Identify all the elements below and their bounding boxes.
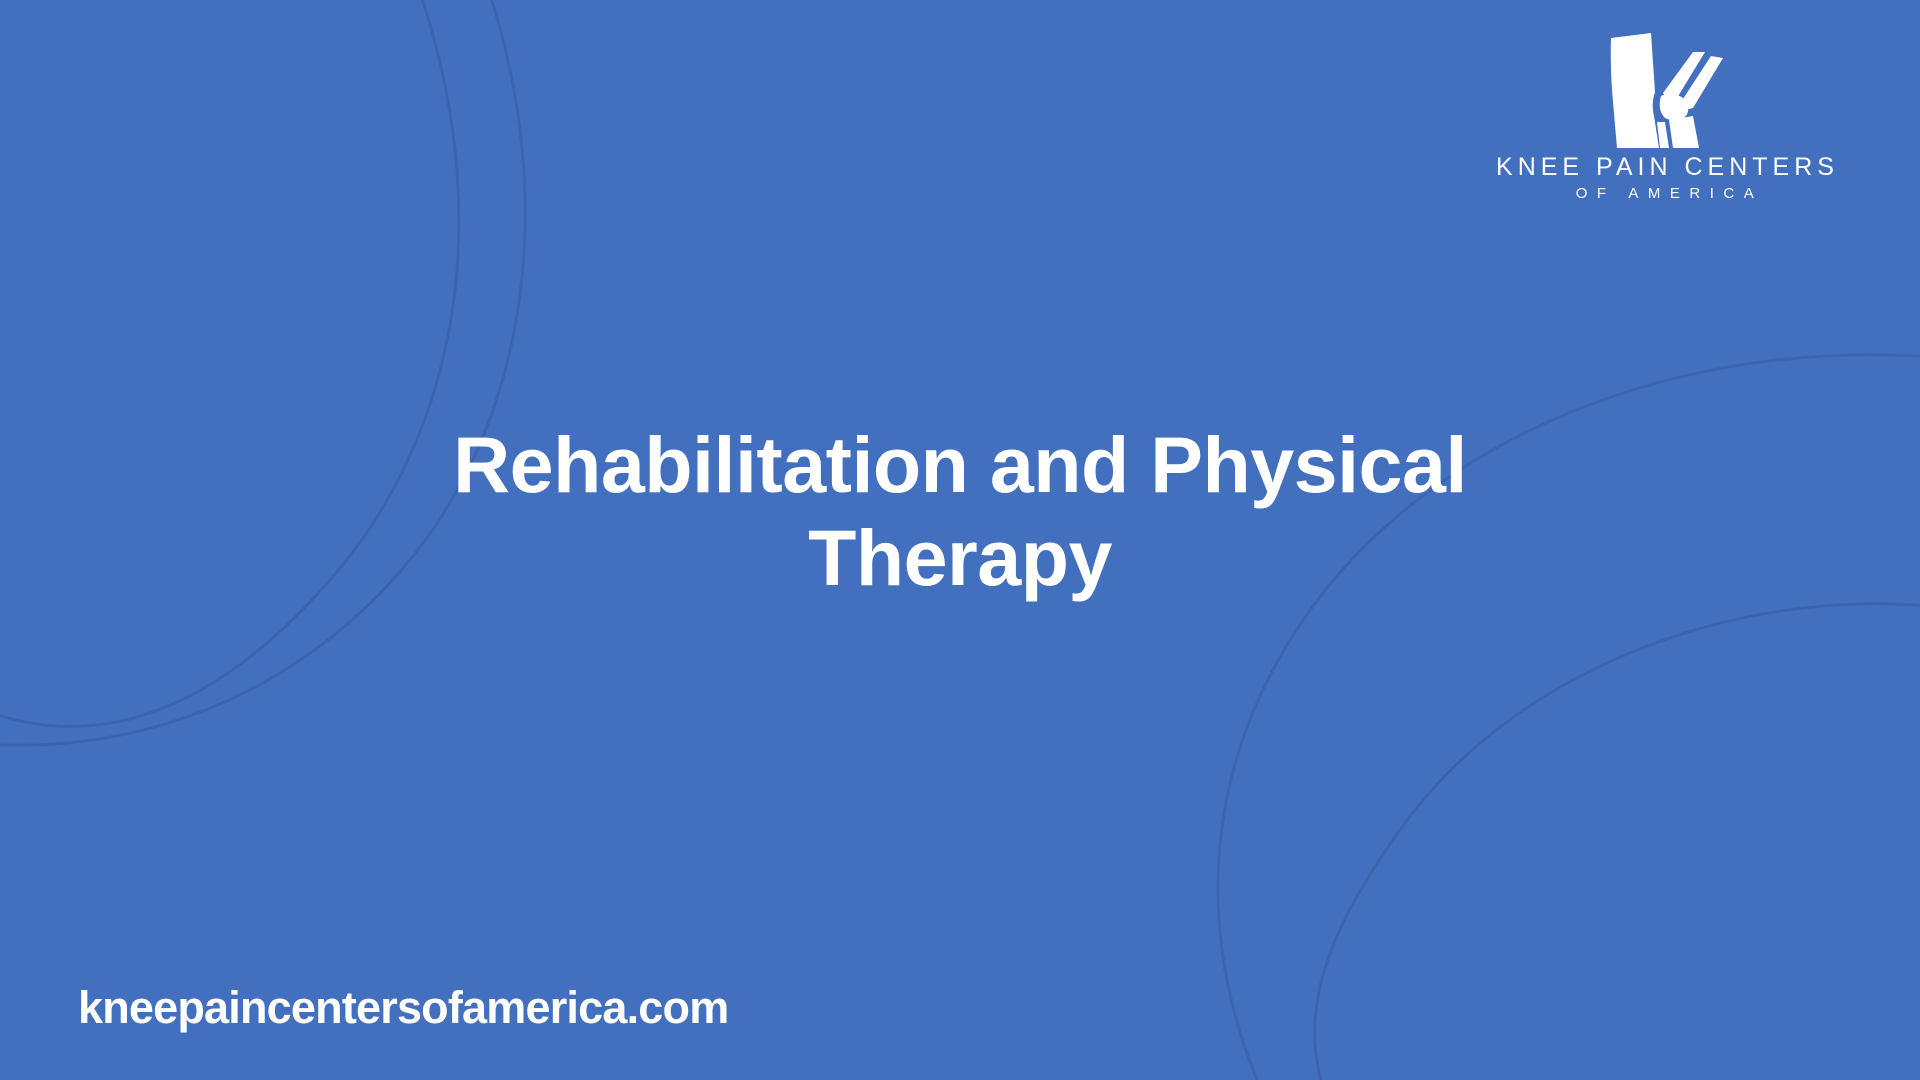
- arc-top-left-outer: [0, 0, 525, 745]
- arc-bottom-right-inner: [1315, 604, 1920, 1080]
- slide-canvas: KNEE PAIN CENTERS OF AMERICA Rehabilitat…: [0, 0, 1920, 1080]
- logo-secondary-text: OF AMERICA: [1567, 186, 1764, 203]
- website-url: kneepaincentersofamerica.com: [78, 983, 728, 1033]
- brand-logo: KNEE PAIN CENTERS OF AMERICA: [1490, 30, 1840, 203]
- knee-joint-k-logo-icon: [1607, 30, 1723, 148]
- logo-primary-text: KNEE PAIN CENTERS: [1491, 154, 1839, 180]
- slide-title: Rehabilitation and Physical Therapy: [0, 418, 1920, 604]
- arc-top-left-inner: [0, 0, 459, 726]
